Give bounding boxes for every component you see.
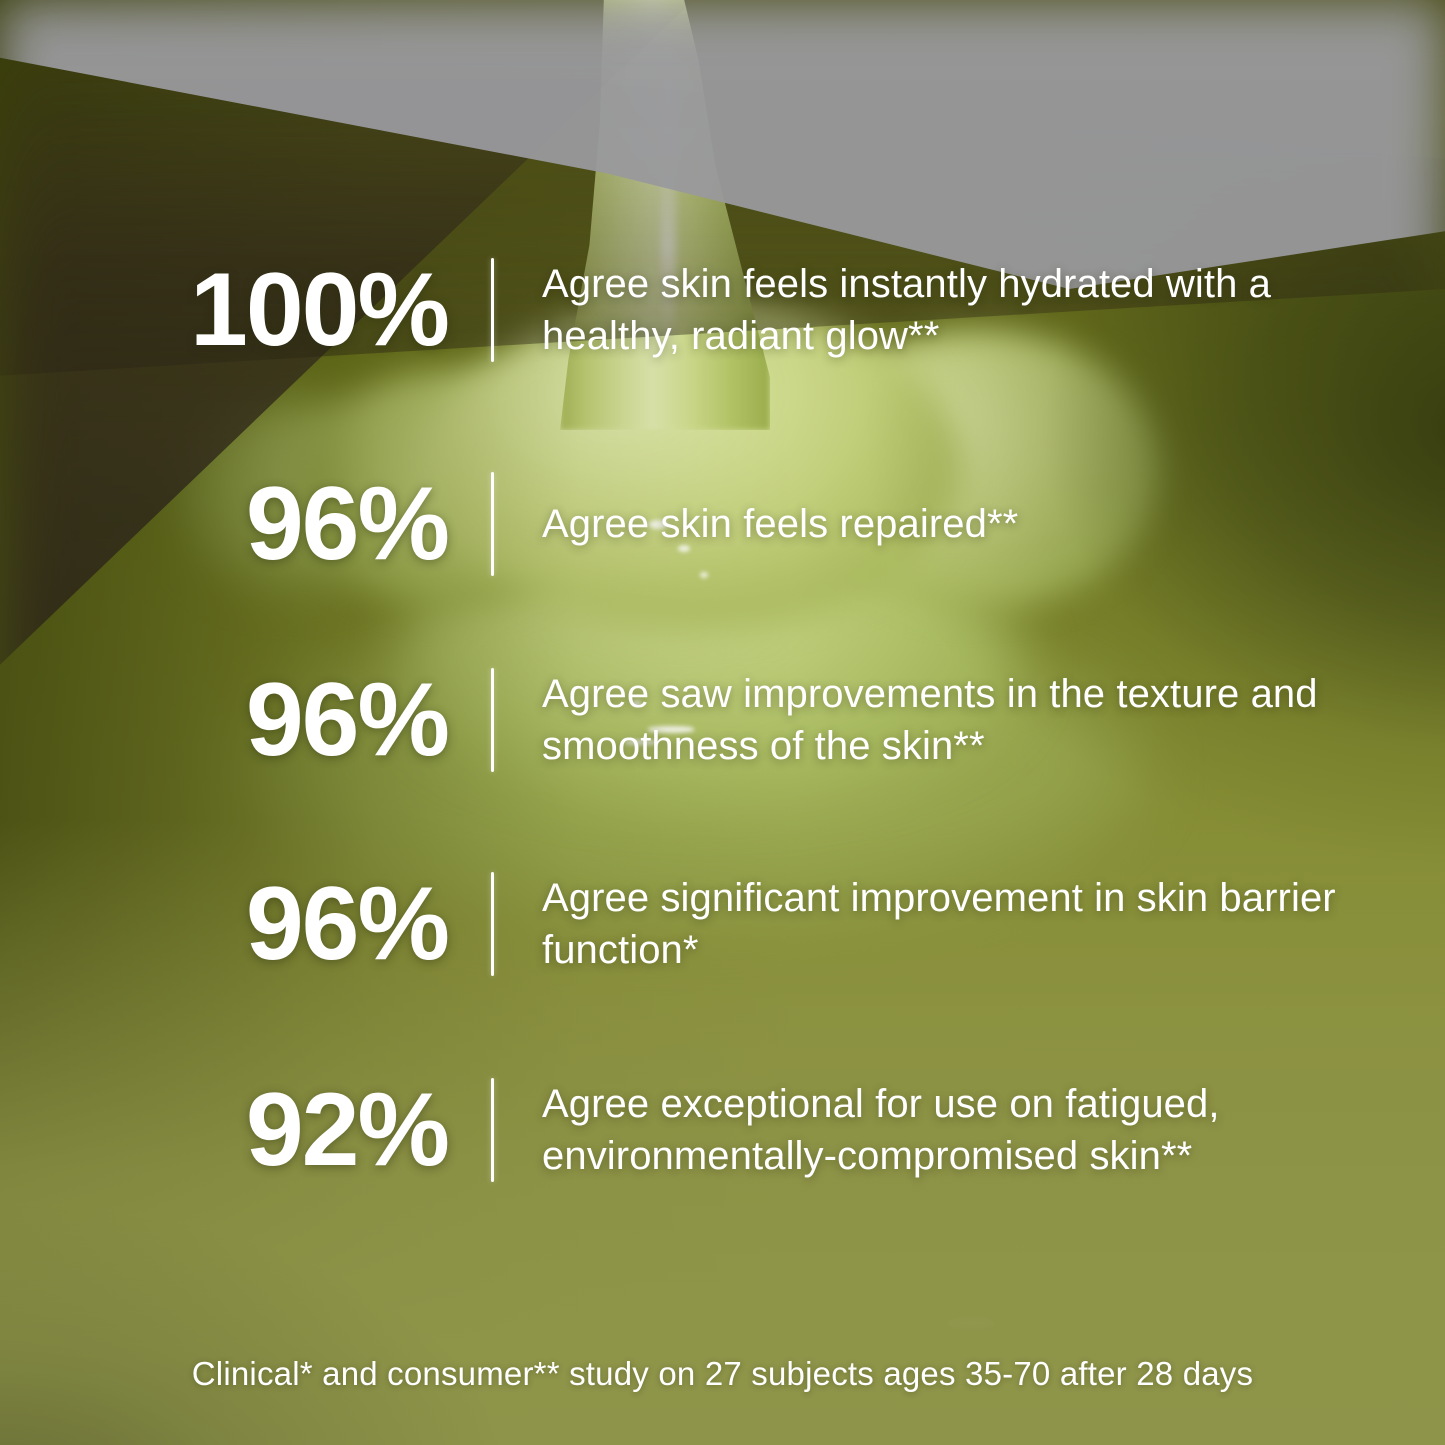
stat-divider [491, 668, 494, 772]
stat-label: Agree significant improvement in skin ba… [542, 872, 1382, 976]
stat-row: 96% Agree skin feels repaired** [0, 472, 1445, 576]
stat-percent: 96% [0, 472, 448, 576]
stat-row: 96% Agree saw improvements in the textur… [0, 668, 1445, 772]
stat-label: Agree saw improvements in the texture an… [542, 668, 1382, 772]
stat-divider [491, 1078, 494, 1182]
stat-percent: 100% [0, 258, 448, 362]
stat-label: Agree skin feels instantly hydrated with… [542, 258, 1382, 362]
study-footnote: Clinical* and consumer** study on 27 sub… [0, 1355, 1445, 1393]
promo-stat-graphic: 100% Agree skin feels instantly hydrated… [0, 0, 1445, 1445]
stat-row: 92% Agree exceptional for use on fatigue… [0, 1078, 1445, 1182]
stat-label: Agree skin feels repaired** [542, 498, 1018, 550]
stat-percent: 92% [0, 1078, 448, 1182]
stat-row: 100% Agree skin feels instantly hydrated… [0, 258, 1445, 362]
stat-divider [491, 258, 494, 362]
stat-percent: 96% [0, 668, 448, 772]
stat-label: Agree exceptional for use on fatigued, e… [542, 1078, 1382, 1182]
stat-percent: 96% [0, 872, 448, 976]
stat-divider [491, 872, 494, 976]
stat-row: 96% Agree significant improvement in ski… [0, 872, 1445, 976]
stat-divider [491, 472, 494, 576]
